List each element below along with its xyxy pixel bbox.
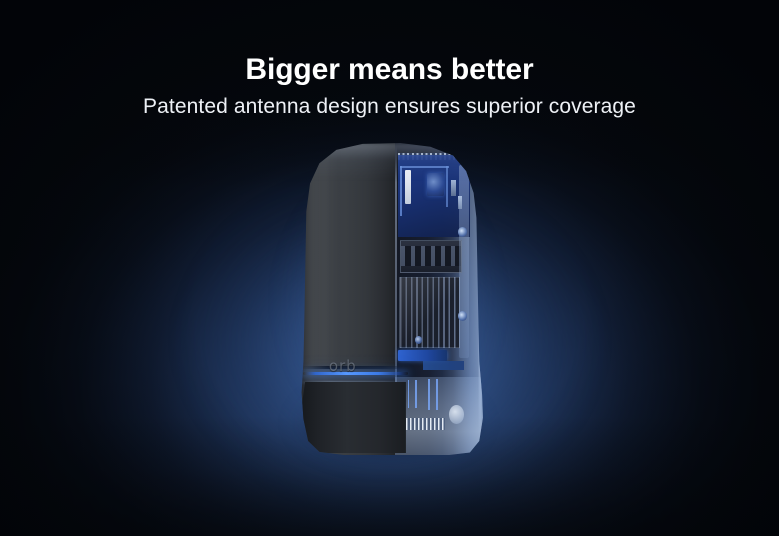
heatsink-highlight bbox=[400, 278, 458, 347]
product-image: orb bbox=[286, 138, 492, 458]
chassis-screw-lower bbox=[415, 336, 422, 343]
internal-antenna-rail bbox=[459, 165, 469, 358]
page-title: Bigger means better bbox=[0, 52, 779, 88]
emi-shield-vents bbox=[401, 246, 461, 266]
chassis-screw-top bbox=[458, 227, 467, 237]
banner-stage: Bigger means better Patented antenna des… bbox=[0, 0, 779, 536]
product-base bbox=[299, 382, 406, 454]
antenna-element-secondary bbox=[423, 361, 464, 369]
emi-shield bbox=[400, 240, 462, 273]
connector-pin-3 bbox=[428, 379, 430, 410]
connector-pin-1 bbox=[408, 380, 410, 408]
pcb-smd-component-1 bbox=[451, 180, 456, 196]
brand-logo: orb bbox=[329, 357, 404, 375]
base-internal-blob bbox=[449, 405, 464, 424]
page-subtitle: Patented antenna design ensures superior… bbox=[0, 93, 779, 120]
connector-pin-4 bbox=[436, 379, 438, 410]
connector-pin-2 bbox=[415, 380, 417, 408]
heatsink-fins bbox=[399, 277, 459, 348]
product-body: orb bbox=[295, 143, 483, 455]
antenna-element-primary bbox=[398, 350, 447, 361]
